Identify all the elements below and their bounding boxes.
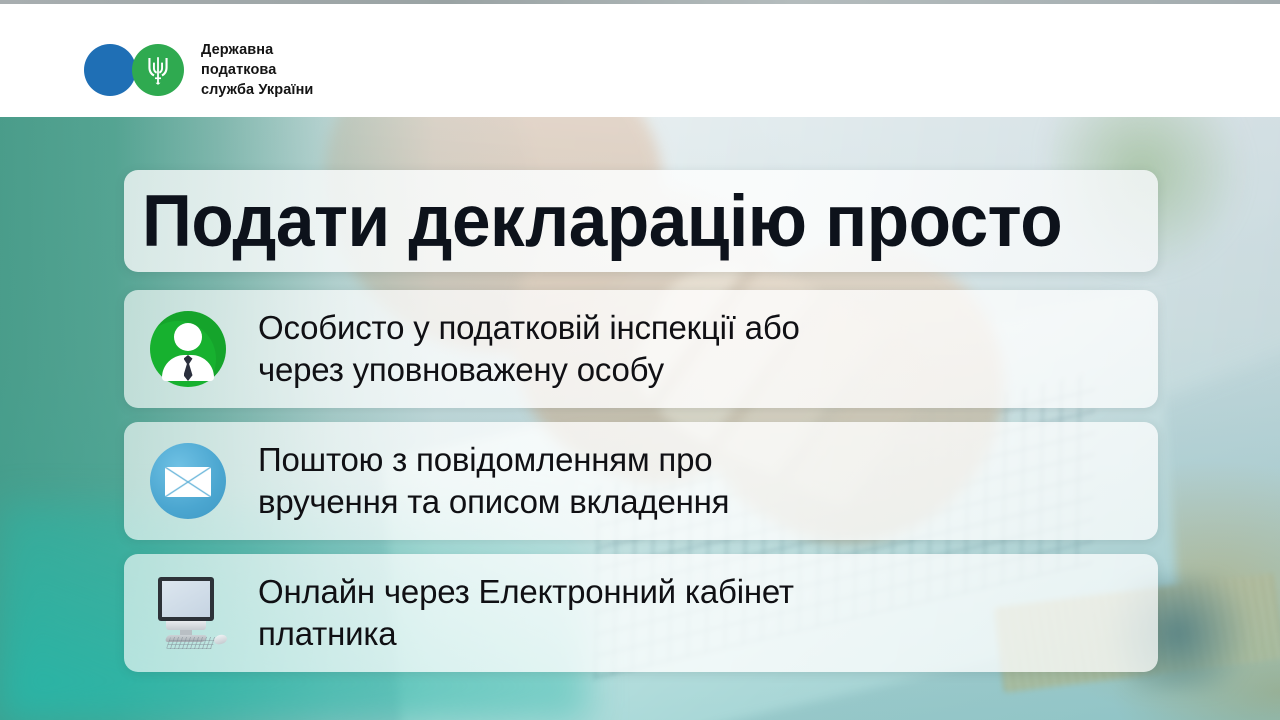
header-bar: Державна податкова служба України xyxy=(0,4,1280,117)
page-title: Подати декларацію просто xyxy=(142,185,1062,258)
logo-text: Державна податкова служба України xyxy=(201,40,313,100)
monitor-chin xyxy=(166,621,206,630)
person-with-tie-icon xyxy=(146,307,230,391)
logo-marks xyxy=(84,44,188,96)
ukrainian-trident-icon xyxy=(146,54,170,86)
option-row-by-post[interactable]: Поштою з повідомленням про вручення та о… xyxy=(124,422,1158,540)
option-row-online[interactable]: Онлайн через Електронний кабінет платник… xyxy=(124,554,1158,672)
person-head xyxy=(174,323,202,351)
content-panels: Подати декларацію просто Особисто у пода… xyxy=(124,170,1158,672)
logo-blue-circle-icon xyxy=(84,44,136,96)
organization-logo: Державна податкова служба України xyxy=(84,40,313,100)
option-row-in-person[interactable]: Особисто у податковій інспекції або чере… xyxy=(124,290,1158,408)
desktop-computer-icon xyxy=(146,571,230,655)
slide-canvas: Державна податкова служба України Подати… xyxy=(0,0,1280,720)
option-label-online: Онлайн через Електронний кабінет платник… xyxy=(258,571,794,655)
mouse xyxy=(213,633,228,645)
option-label-in-person: Особисто у податковій інспекції або чере… xyxy=(258,307,800,391)
option-label-by-post: Поштою з повідомленням про вручення та о… xyxy=(258,439,729,523)
monitor xyxy=(158,577,214,621)
keyboard xyxy=(166,637,216,649)
title-panel: Подати декларацію просто xyxy=(124,170,1158,272)
envelope-body xyxy=(165,467,211,497)
top-divider xyxy=(0,0,1280,4)
envelope-icon xyxy=(146,439,230,523)
